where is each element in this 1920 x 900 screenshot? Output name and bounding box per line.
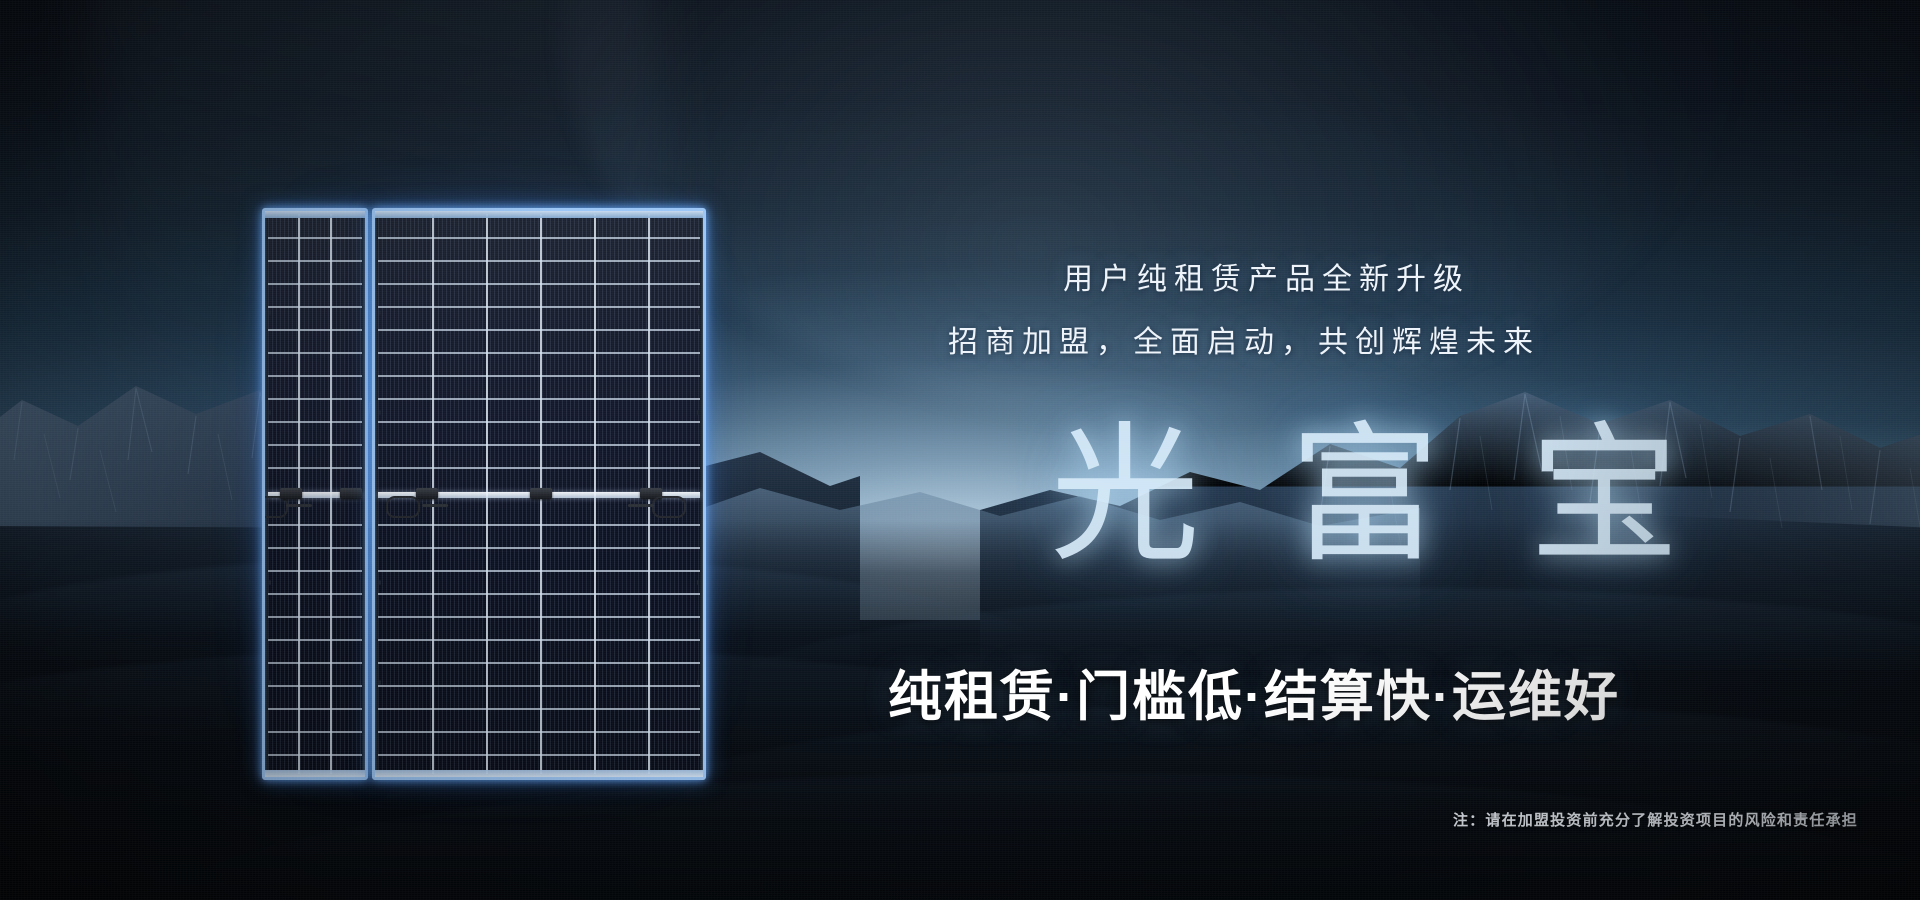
cable-loop-left-1 <box>262 496 288 518</box>
cable-stub-right-2 <box>628 504 654 507</box>
solar-panel-right <box>372 208 706 780</box>
disclaimer-note: 注：请在加盟投资前充分了解投资项目的风险和责任承担 <box>1453 809 1858 830</box>
panel-rail-top-left <box>265 211 365 218</box>
cable-stub-left-1 <box>286 504 312 507</box>
tagline: 纯租赁·门槛低·结算快·运维好 <box>888 670 1620 724</box>
panel-rail-bottom-right <box>375 770 703 777</box>
cable-stub-right-1 <box>422 504 448 507</box>
panel-rail-top-right <box>375 211 703 218</box>
cable-loop-right-2 <box>652 496 686 518</box>
junction-box-right-1 <box>416 488 438 499</box>
promo-banner: 用户纯租赁产品全新升级 招商加盟，全面启动，共创辉煌未来 光 富 宝 纯租赁·门… <box>0 0 1920 900</box>
solar-cell-field-left <box>268 214 362 774</box>
junction-box-left-2 <box>340 488 362 499</box>
brand-title: 光 富 宝 <box>1050 420 1703 570</box>
solar-panel-product-image <box>262 208 706 774</box>
solar-cell-field-right <box>378 214 700 774</box>
solar-panel-left <box>262 208 368 780</box>
cable-loop-right-1 <box>386 496 420 518</box>
junction-box-right-2 <box>530 488 552 499</box>
headline-primary: 用户纯租赁产品全新升级 <box>1063 254 1470 298</box>
junction-box-left-1 <box>280 488 302 499</box>
headline-secondary: 招商加盟，全面启动，共创辉煌未来 <box>948 317 1540 361</box>
panel-rail-bottom-left <box>265 770 365 777</box>
